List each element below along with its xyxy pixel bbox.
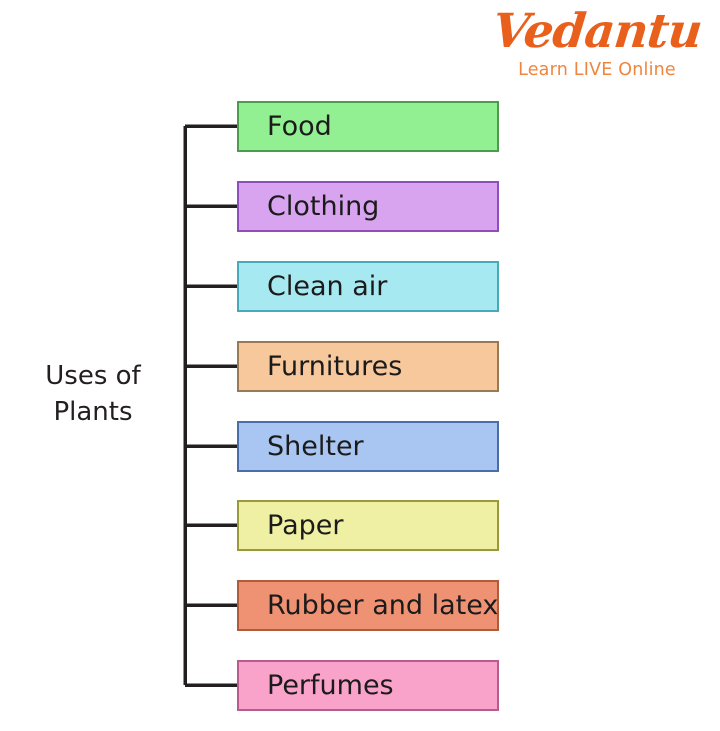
node-label: Clothing	[239, 192, 379, 222]
node-box-food[interactable]: Food	[237, 101, 499, 152]
node-box-clothing[interactable]: Clothing	[237, 181, 499, 232]
node-box-perfumes[interactable]: Perfumes	[237, 660, 499, 711]
node-label: Food	[239, 112, 332, 142]
node-box-furnitures[interactable]: Furnitures	[237, 341, 499, 392]
node-label: Paper	[239, 511, 343, 541]
node-box-rubber-and-latex[interactable]: Rubber and latex	[237, 580, 499, 631]
node-box-shelter[interactable]: Shelter	[237, 421, 499, 472]
node-label: Clean air	[239, 272, 387, 302]
node-label: Rubber and latex	[239, 591, 498, 621]
root-node-label: Uses of Plants	[8, 358, 178, 430]
uses-of-plants-diagram: Uses of Plants Food Clothing Clean air F…	[0, 0, 720, 731]
node-label: Furnitures	[239, 352, 402, 382]
vedantu-logo: Vedantu Learn LIVE Online	[492, 6, 702, 81]
node-box-paper[interactable]: Paper	[237, 500, 499, 551]
brand-wordmark: Vedantu	[489, 6, 704, 58]
node-box-clean-air[interactable]: Clean air	[237, 261, 499, 312]
brand-tagline: Learn LIVE Online	[492, 59, 702, 81]
node-label: Shelter	[239, 432, 364, 462]
node-label: Perfumes	[239, 671, 394, 701]
